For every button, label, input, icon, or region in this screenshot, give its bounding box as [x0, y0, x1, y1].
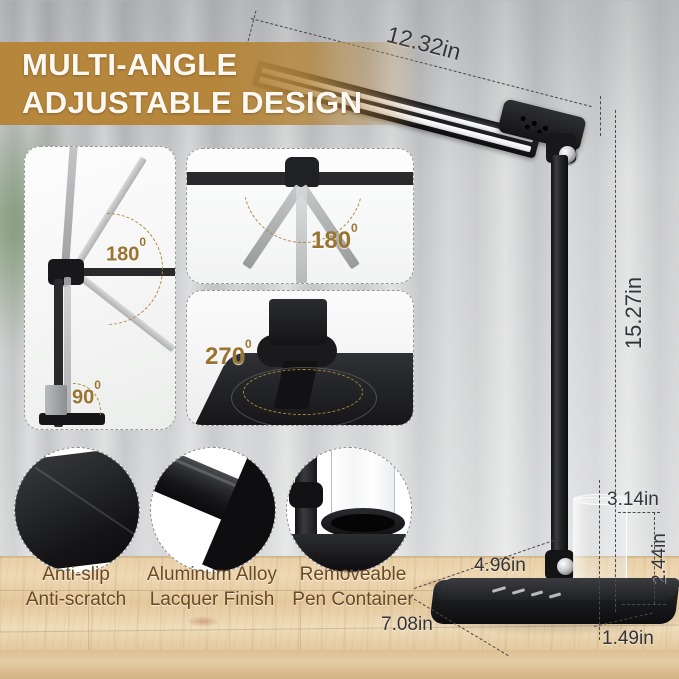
swivel-hinge-cap [285, 157, 319, 187]
angle-label-270-rotation: 2700 [205, 343, 252, 371]
head-swivel-panel: 1800 [186, 148, 414, 284]
rotation-hinge-post [269, 299, 327, 345]
dim-tick-arm-end [600, 96, 601, 136]
dim-label-total-height: 15.27in [621, 277, 647, 349]
feature-circle-2 [150, 447, 276, 573]
side-view-base-riser [45, 385, 67, 415]
angle-label-180-swivel: 1800 [311, 227, 358, 255]
desk-apron [0, 650, 679, 679]
dim-line-total-height [615, 110, 616, 612]
side-view-panel: 1800 900 [24, 146, 176, 430]
dim-line-cup-center [599, 480, 600, 640]
dim-label-base-thickness: 1.49in [602, 628, 654, 650]
feature-caption-3: Removeable Pen Container [258, 562, 448, 612]
infographic-canvas: 12.32in 15.27in 3.14in 2.44in 4.96in 7.0… [0, 0, 679, 679]
base-rotation-panel: 2700 [186, 290, 414, 426]
post-lower-hinge-knob [557, 558, 574, 575]
lamp-post [551, 155, 568, 575]
dim-label-cup-height: 3.14in [607, 489, 659, 511]
feature-circle-1 [14, 447, 140, 573]
dim-label-base-width: 7.08in [381, 614, 433, 636]
page-title: MULTI-ANGLE ADJUSTABLE DESIGN [22, 46, 452, 122]
dim-label-cup-diameter: 2.44in [649, 533, 671, 585]
base-corner-icon [14, 447, 140, 573]
dim-label-base-depth: 4.96in [474, 555, 526, 577]
angle-label-180-side: 1800 [106, 242, 146, 267]
dim-tick-cup-bottom [622, 604, 666, 605]
lamp-base-top [436, 578, 679, 600]
rotation-ring-outline [231, 367, 377, 426]
feature-circle-3 [286, 447, 412, 573]
angle-label-90-side: 900 [72, 385, 101, 410]
